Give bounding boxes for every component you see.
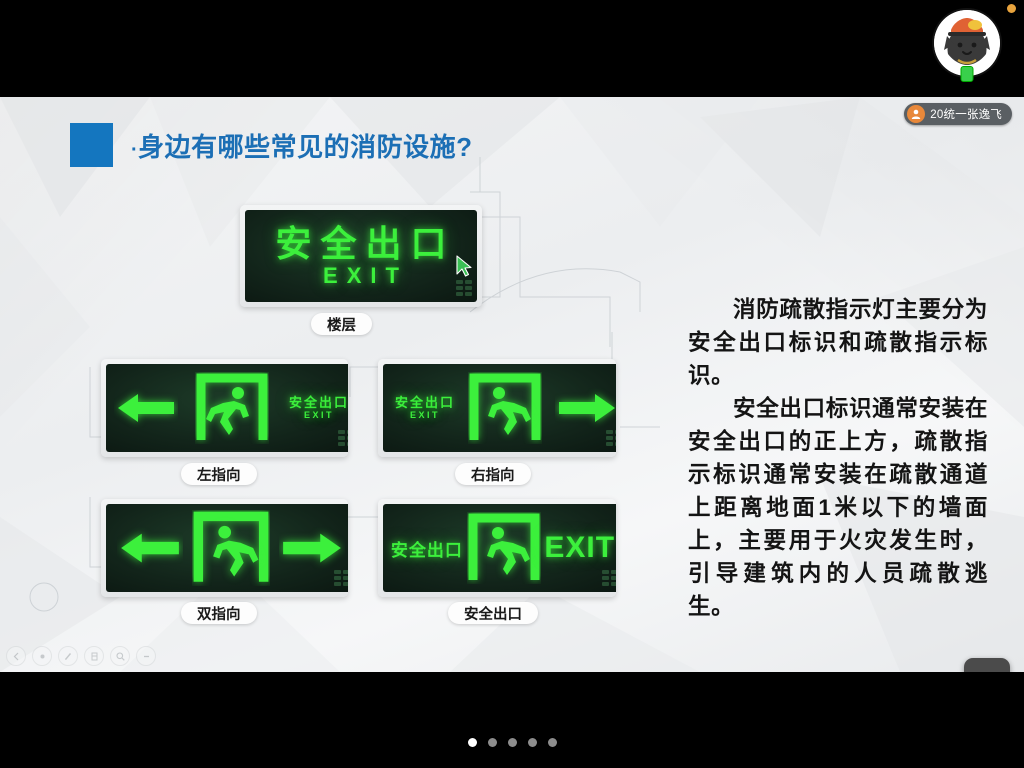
sign-floor-en-text: EXIT [314,265,408,287]
next-icon[interactable] [32,646,52,666]
sign-floor-corner-code [456,280,472,296]
arrow-right-icon [555,388,616,428]
bottom-bar [0,672,1024,768]
sign-left-en-text: EXIT [302,411,334,420]
sign-floor-panel: 安全出口 EXIT [245,210,477,302]
edit-pen-button[interactable] [964,658,1010,672]
sign-right-corner-code [606,430,616,446]
arrow-left-icon [114,388,178,428]
title-text: 身边有哪些常见的消防设施? [138,132,472,162]
sign-floor-caption: 楼层 [311,313,372,335]
arrow-left-icon [117,527,183,569]
sign-floor[interactable]: 安全出口 EXIT [240,205,482,307]
body-paragraph-1: 消防疏散指示灯主要分为安全出口标识和疏散指示标识。 [688,293,988,392]
slide-canvas: 20统一张逸飞 ·身边有哪些常见的消防设施? 安全出口 EXIT 楼层 [0,97,1024,672]
sign-safety-exit-en-text: EXIT [544,531,615,565]
search-icon[interactable] [110,646,130,666]
mouse-cursor [455,255,473,277]
sign-bi-direction[interactable] [101,499,348,597]
previous-icon[interactable] [6,646,26,666]
app-root: 20统一张逸飞 ·身边有哪些常见的消防设施? 安全出口 EXIT 楼层 [0,0,1024,768]
body-text: 消防疏散指示灯主要分为安全出口标识和疏散指示标识。 安全出口标识通常安装在安全出… [688,293,988,623]
page-dot-5[interactable] [548,738,557,747]
sign-safety-exit[interactable]: 安全出口 EXIT [378,499,616,597]
sign-left-corner-code [338,430,348,446]
sign-right-direction[interactable]: 安全出口 EXIT [378,359,616,457]
page-title: ·身边有哪些常见的消防设施? [131,127,473,164]
sign-left-direction-panel: 安全出口 EXIT [106,364,348,452]
minus-icon[interactable] [136,646,156,666]
title-marker-block [70,123,113,167]
sign-left-direction[interactable]: 安全出口 EXIT [101,359,348,457]
pen-icon[interactable] [58,646,78,666]
status-indicator-dot [1007,4,1016,13]
annotation-toolbar[interactable] [6,646,156,666]
top-bar [0,0,1024,97]
running-man-exit-pictogram [195,372,269,444]
sign-left-direction-caption: 左指向 [181,463,257,485]
sign-safety-exit-corner-code [602,570,616,586]
participant-name-label: 20统一张逸飞 [930,106,1002,122]
sign-bi-direction-caption: 双指向 [181,602,257,624]
presenter-avatar-wrap[interactable] [934,10,1000,76]
sign-floor-cn-text: 安全出口 [266,226,455,262]
participant-name-badge[interactable]: 20统一张逸飞 [904,103,1012,125]
sign-right-cn-text: 安全出口 [393,396,455,409]
sign-right-direction-caption: 右指向 [455,463,531,485]
body-paragraph-2: 安全出口标识通常安装在安全出口的正上方，疏散指示标识通常安装在疏散通道上距离地面… [688,392,988,623]
page-dot-3[interactable] [508,738,517,747]
sign-bi-direction-panel [106,504,348,592]
running-man-exit-pictogram [467,512,541,584]
arrow-right-icon [279,527,345,569]
slide-title-row: ·身边有哪些常见的消防设施? [70,123,473,167]
pen-square-icon [974,668,1000,672]
stamp-icon[interactable] [84,646,104,666]
page-dot-2[interactable] [488,738,497,747]
sign-right-en-text: EXIT [408,411,440,420]
person-icon [907,105,925,123]
page-dot-4[interactable] [528,738,537,747]
running-man-exit-pictogram [192,510,270,586]
sign-safety-exit-cn-text: 安全出口 [391,536,463,561]
sign-safety-exit-panel: 安全出口 EXIT [383,504,616,592]
sign-bi-corner-code [334,570,348,586]
page-indicator[interactable] [0,738,1024,747]
page-dot-1[interactable] [468,738,477,747]
sign-right-direction-panel: 安全出口 EXIT [383,364,616,452]
mic-status-icon [961,66,974,82]
running-man-exit-pictogram [468,372,542,444]
sign-left-cn-text: 安全出口 [287,396,348,409]
sign-safety-exit-caption: 安全出口 [448,602,538,624]
